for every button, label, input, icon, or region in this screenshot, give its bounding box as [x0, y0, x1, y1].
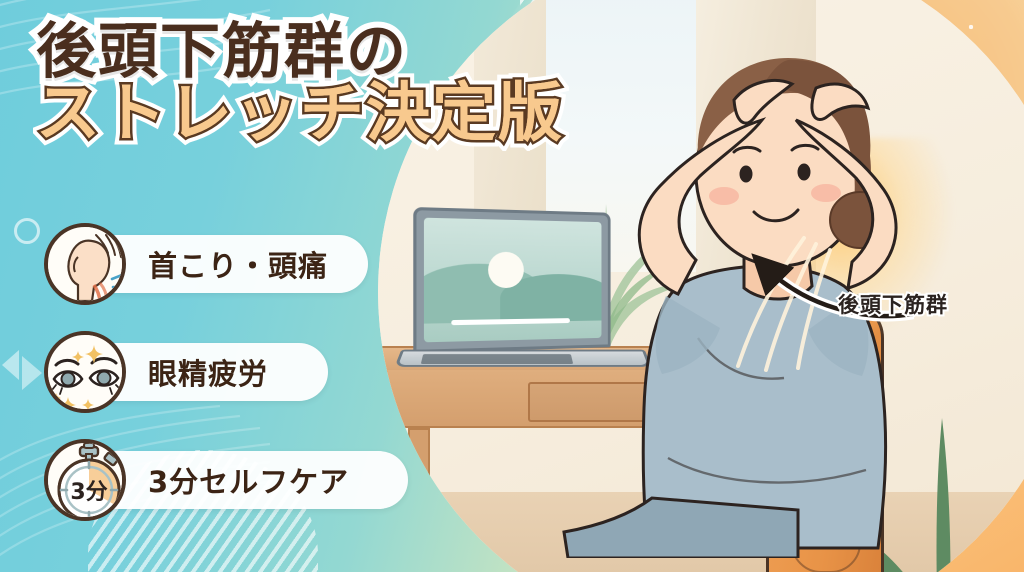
feature-badge-pill: 3分セルフケア	[88, 451, 408, 509]
stopwatch-icon-text: 3分	[70, 480, 107, 505]
pointer-arrow-icon	[744, 236, 914, 336]
desk-leg	[408, 428, 430, 518]
triangle-decoration-left-b	[22, 356, 42, 390]
title-line-2-fill: ストレッチ決定版	[36, 82, 564, 146]
triangle-outline-decoration	[288, 508, 314, 542]
feature-badge-list: 首こり・頭痛	[44, 222, 126, 546]
tired-eyes-icon	[44, 331, 126, 413]
head-neck-pain-icon	[44, 223, 126, 305]
feature-badge-label: 3分セルフケア	[148, 459, 349, 501]
feature-badge-label: 首こり・頭痛	[148, 243, 328, 285]
triangle-decoration-left-a	[2, 350, 19, 380]
title-line-1: 後頭下筋群の	[36, 22, 408, 82]
page-title: 後頭下筋群の ストレッチ決定版 ストレッチ決定版 ストレッチ決定版	[36, 22, 408, 156]
feature-badge[interactable]: 首こり・頭痛	[44, 222, 126, 306]
poster-canvas: 後頭下筋群 後頭下筋群の ストレッチ決定版 ストレッチ決定版 ストレッチ決定版 …	[0, 0, 1024, 572]
annotation-label: 後頭下筋群	[838, 289, 948, 319]
feature-badge[interactable]: 3分セルフケア 3分	[44, 438, 126, 522]
feature-badge-pill: 首こり・頭痛	[88, 235, 368, 293]
laptop-wallpaper-sun	[488, 252, 524, 288]
feature-badge-label: 眼精疲労	[148, 351, 268, 393]
stopwatch-icon: 3分	[44, 439, 126, 521]
circle-outline-decoration	[14, 218, 40, 244]
feature-badge[interactable]: 眼精疲労	[44, 330, 126, 414]
